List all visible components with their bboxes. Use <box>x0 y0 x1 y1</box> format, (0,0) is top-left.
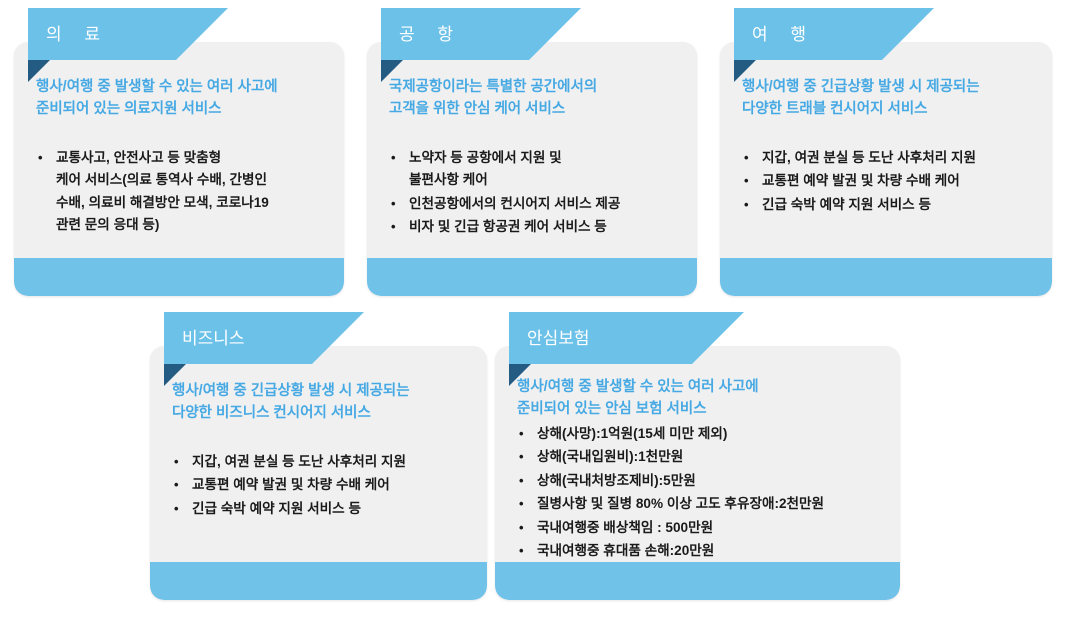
card-title-airport: 공 항 <box>381 26 462 43</box>
list-item: 교통편 예약 발권 및 차량 수배 케어 <box>742 170 1036 192</box>
list-item: 국내여행중 휴대품 손해:20만원 <box>517 540 884 562</box>
card-body-travel: 행사/여행 중 긴급상황 발생 시 제공되는 다양한 트래블 컨시어지 서비스 … <box>720 42 1052 296</box>
card-bullet-list-medical: 교통사고, 안전사고 등 맞춤형 케어 서비스(의료 통역사 수배, 간병인 수… <box>36 147 328 237</box>
card-content-airport: 국제공항이라는 특별한 공간에서의 고객을 위한 안심 케어 서비스 노약자 등… <box>367 42 697 258</box>
list-item: 상해(국내입원비):1천만원 <box>517 446 884 468</box>
card-footer-insurance <box>495 562 900 600</box>
service-card-insurance[interactable]: 안심보험 행사/여행 중 발생할 수 있는 여러 사고에 준비되어 있는 안심 … <box>495 312 900 600</box>
card-body-business: 행사/여행 중 긴급상황 발생 시 제공되는 다양한 비즈니스 컨시어지 서비스… <box>150 346 487 600</box>
card-footer-travel <box>720 258 1052 296</box>
list-item: 지갑, 여권 분실 등 도난 사후처리 지원 <box>172 451 471 473</box>
card-title-travel: 여 행 <box>734 26 815 43</box>
list-item: 긴급 숙박 예약 지원 서비스 등 <box>742 194 1036 216</box>
list-item: 교통사고, 안전사고 등 맞춤형 케어 서비스(의료 통역사 수배, 간병인 수… <box>36 147 328 237</box>
list-item: 긴급 숙박 예약 지원 서비스 등 <box>172 498 471 520</box>
card-bullet-list-airport: 노약자 등 공항에서 지원 및 불편사항 케어 인천공항에서의 컨시어지 서비스… <box>389 147 681 239</box>
service-card-business[interactable]: 비즈니스 행사/여행 중 긴급상황 발생 시 제공되는 다양한 비즈니스 컨시어… <box>150 312 487 600</box>
card-bullet-list-insurance: 상해(사망):1억원(15세 미만 제외) 상해(국내입원비):1천만원 상해(… <box>517 423 884 563</box>
list-item: 노약자 등 공항에서 지원 및 불편사항 케어 <box>389 147 681 192</box>
card-lead-airport: 국제공항이라는 특별한 공간에서의 고객을 위한 안심 케어 서비스 <box>389 76 681 121</box>
card-body-medical: 행사/여행 중 발생할 수 있는 여러 사고에 준비되어 있는 의료지원 서비스… <box>14 42 344 296</box>
card-body-airport: 국제공항이라는 특별한 공간에서의 고객을 위한 안심 케어 서비스 노약자 등… <box>367 42 697 296</box>
service-card-airport[interactable]: 공 항 국제공항이라는 특별한 공간에서의 고객을 위한 안심 케어 서비스 노… <box>367 8 697 296</box>
list-item: 비자 및 긴급 항공권 케어 서비스 등 <box>389 216 681 238</box>
list-item: 상해(국내처방조제비):5만원 <box>517 470 884 492</box>
card-title-medical: 의 료 <box>28 26 109 43</box>
card-lead-travel: 행사/여행 중 긴급상황 발생 시 제공되는 다양한 트래블 컨시어지 서비스 <box>742 76 1036 121</box>
list-item: 교통편 예약 발권 및 차량 수배 케어 <box>172 474 471 496</box>
card-footer-airport <box>367 258 697 296</box>
card-bullet-list-business: 지갑, 여권 분실 등 도난 사후처리 지원 교통편 예약 발권 및 차량 수배… <box>172 451 471 520</box>
list-item: 질병사항 및 질병 80% 이상 고도 후유장애:2천만원 <box>517 493 884 515</box>
card-bullet-list-travel: 지갑, 여권 분실 등 도난 사후처리 지원 교통편 예약 발권 및 차량 수배… <box>742 147 1036 216</box>
card-content-insurance: 행사/여행 중 발생할 수 있는 여러 사고에 준비되어 있는 안심 보험 서비… <box>495 346 900 562</box>
card-content-medical: 행사/여행 중 발생할 수 있는 여러 사고에 준비되어 있는 의료지원 서비스… <box>14 42 344 258</box>
list-item: 국내여행중 배상책임 : 500만원 <box>517 517 884 539</box>
card-footer-business <box>150 562 487 600</box>
list-item: 상해(사망):1억원(15세 미만 제외) <box>517 423 884 445</box>
card-title-insurance: 안심보험 <box>509 330 590 347</box>
list-item: 지갑, 여권 분실 등 도난 사후처리 지원 <box>742 147 1036 169</box>
card-title-business: 비즈니스 <box>164 330 245 347</box>
card-lead-medical: 행사/여행 중 발생할 수 있는 여러 사고에 준비되어 있는 의료지원 서비스 <box>36 76 328 121</box>
list-item: 인천공항에서의 컨시어지 서비스 제공 <box>389 193 681 215</box>
card-body-insurance: 행사/여행 중 발생할 수 있는 여러 사고에 준비되어 있는 안심 보험 서비… <box>495 346 900 600</box>
service-card-travel[interactable]: 여 행 행사/여행 중 긴급상황 발생 시 제공되는 다양한 트래블 컨시어지 … <box>720 8 1052 296</box>
card-footer-medical <box>14 258 344 296</box>
card-lead-insurance: 행사/여행 중 발생할 수 있는 여러 사고에 준비되어 있는 안심 보험 서비… <box>517 376 884 421</box>
card-content-travel: 행사/여행 중 긴급상황 발생 시 제공되는 다양한 트래블 컨시어지 서비스 … <box>720 42 1052 258</box>
card-content-business: 행사/여행 중 긴급상황 발생 시 제공되는 다양한 비즈니스 컨시어지 서비스… <box>150 346 487 562</box>
card-lead-business: 행사/여행 중 긴급상황 발생 시 제공되는 다양한 비즈니스 컨시어지 서비스 <box>172 380 471 425</box>
service-card-medical[interactable]: 의 료 행사/여행 중 발생할 수 있는 여러 사고에 준비되어 있는 의료지원… <box>14 8 344 296</box>
